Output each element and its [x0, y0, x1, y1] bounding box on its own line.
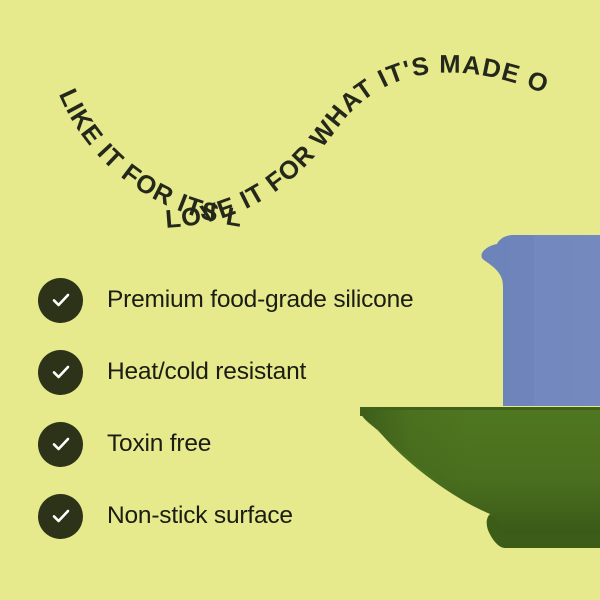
- feature-item-non-stick-surface: Non-stick surface: [38, 480, 508, 552]
- curved-headline: LIKE IT FOR ITS LOOKS. LOVE IT FOR WHAT …: [0, 30, 600, 240]
- product-feature-card: LIKE IT FOR ITS LOOKS. LOVE IT FOR WHAT …: [0, 0, 600, 600]
- feature-item-toxin-free: Toxin free: [38, 408, 508, 480]
- feature-item-heat-cold-resistant: Heat/cold resistant: [38, 336, 508, 408]
- feature-label: Non-stick surface: [107, 504, 293, 529]
- check-icon: [38, 278, 83, 323]
- feature-label: Toxin free: [107, 432, 211, 457]
- feature-item-premium-silicone: Premium food-grade silicone: [38, 264, 508, 336]
- check-icon: [38, 422, 83, 467]
- feature-list: Premium food-grade silicone Heat/cold re…: [38, 264, 508, 552]
- feature-label: Premium food-grade silicone: [107, 288, 413, 313]
- feature-label: Heat/cold resistant: [107, 360, 306, 385]
- orange-bowl: [525, 482, 600, 560]
- check-icon: [38, 350, 83, 395]
- check-icon: [38, 494, 83, 539]
